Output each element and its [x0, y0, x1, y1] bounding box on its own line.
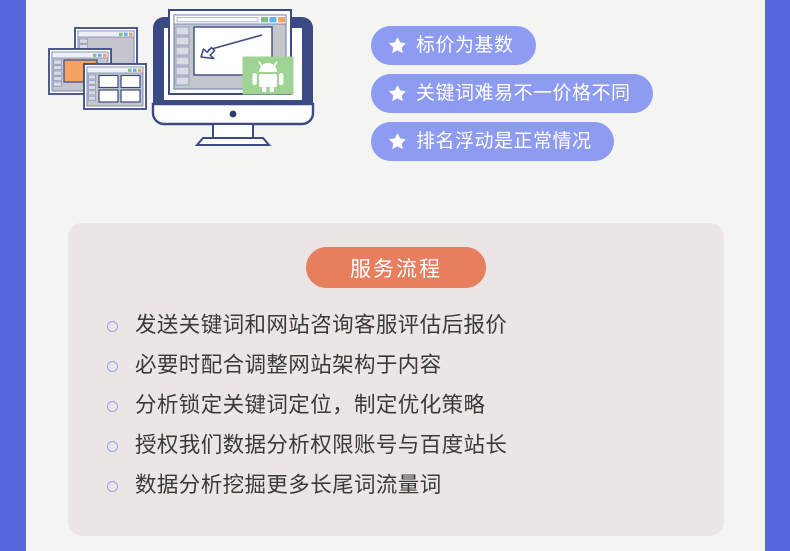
stacked-browser-windows-icon [49, 28, 146, 109]
circle-outline-icon [107, 321, 118, 332]
feature-badge[interactable]: 关键词难易不一价格不同 [371, 74, 653, 113]
circle-outline-icon [107, 481, 118, 492]
promo-page: 标价为基数 关键词难易不一价格不同 排名浮动是正常情况 服务流程 发送关键词和网… [0, 0, 790, 551]
circle-outline-icon [107, 401, 118, 412]
star-icon [388, 84, 407, 103]
star-icon [388, 132, 407, 151]
service-step-item: 数据分析挖掘更多长尾词流量词 [107, 466, 704, 506]
android-robot-icon [243, 57, 293, 94]
service-step-label: 数据分析挖掘更多长尾词流量词 [135, 475, 442, 497]
service-step-list: 发送关键词和网站咨询客服评估后报价 必要时配合调整网站架构于内容 分析锁定关键词… [107, 306, 704, 506]
service-step-label: 授权我们数据分析权限账号与百度站长 [135, 435, 507, 457]
right-accent-stripe [765, 0, 790, 551]
feature-badge[interactable]: 排名浮动是正常情况 [371, 122, 614, 161]
feature-badge-label: 标价为基数 [416, 36, 514, 55]
star-icon [388, 36, 407, 55]
service-step-item: 授权我们数据分析权限账号与百度站长 [107, 426, 704, 466]
service-step-label: 发送关键词和网站咨询客服评估后报价 [135, 315, 507, 337]
desktop-monitor-icon [153, 10, 313, 145]
service-step-label: 分析锁定关键词定位，制定优化策略 [135, 395, 485, 417]
feature-badge-label: 关键词难易不一价格不同 [416, 84, 631, 103]
panel-title-badge: 服务流程 [306, 247, 486, 288]
hero-illustration-svg [40, 4, 330, 154]
circle-outline-icon [107, 441, 118, 452]
left-accent-stripe [0, 0, 26, 551]
feature-badge[interactable]: 标价为基数 [371, 26, 536, 65]
service-step-item: 分析锁定关键词定位，制定优化策略 [107, 386, 704, 426]
feature-badge-label: 排名浮动是正常情况 [416, 132, 592, 151]
service-step-item: 必要时配合调整网站架构于内容 [107, 346, 704, 386]
panel-title-wrap: 服务流程 [68, 247, 724, 288]
feature-badge-list: 标价为基数 关键词难易不一价格不同 排名浮动是正常情况 [371, 26, 653, 161]
circle-outline-icon [107, 361, 118, 372]
service-step-label: 必要时配合调整网站架构于内容 [135, 355, 442, 377]
service-process-panel: 服务流程 发送关键词和网站咨询客服评估后报价 必要时配合调整网站架构于内容 分析… [68, 223, 724, 536]
service-step-item: 发送关键词和网站咨询客服评估后报价 [107, 306, 704, 346]
hero-illustration [40, 4, 330, 154]
